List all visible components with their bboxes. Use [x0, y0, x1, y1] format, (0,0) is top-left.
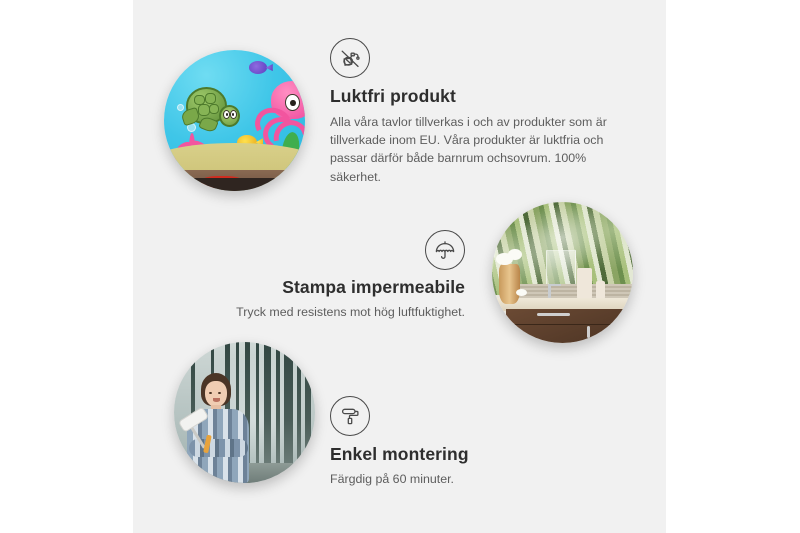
feature-title: Luktfri produkt: [330, 86, 630, 108]
umbrella-icon: [425, 230, 465, 270]
feature-montering: Enkel montering Färgdig på 60 minuter.: [330, 396, 610, 488]
photo-bathroom: [492, 202, 633, 343]
woman-figure: [182, 373, 258, 483]
feature-title: Stampa impermeabile: [170, 277, 465, 299]
feature-title: Enkel montering: [330, 444, 610, 466]
bathroom-artwork: [492, 202, 633, 343]
feature-body: Alla våra tavlor tillverkas i och av pro…: [330, 113, 620, 186]
photo-underwater: [164, 50, 305, 191]
feature-luktfri: Luktfri produkt Alla våra tavlor tillver…: [330, 38, 630, 186]
screenshot-canvas: Luktfri produkt Alla våra tavlor tillver…: [0, 0, 800, 533]
feature-body: Färgdig på 60 minuter.: [330, 470, 610, 488]
paint-roller-icon: [330, 396, 370, 436]
octopus: [254, 81, 305, 140]
feature-body: Tryck med resistens mot hög luftfuktighe…: [170, 303, 465, 321]
no-fragrance-icon: [330, 38, 370, 78]
photo-installer: [174, 342, 315, 483]
underwater-artwork: [164, 50, 305, 191]
feature-impermeabile: Stampa impermeabile Tryck med resistens …: [170, 230, 465, 321]
sea-turtle: [182, 87, 241, 129]
forest-mural-artwork: [174, 342, 315, 483]
